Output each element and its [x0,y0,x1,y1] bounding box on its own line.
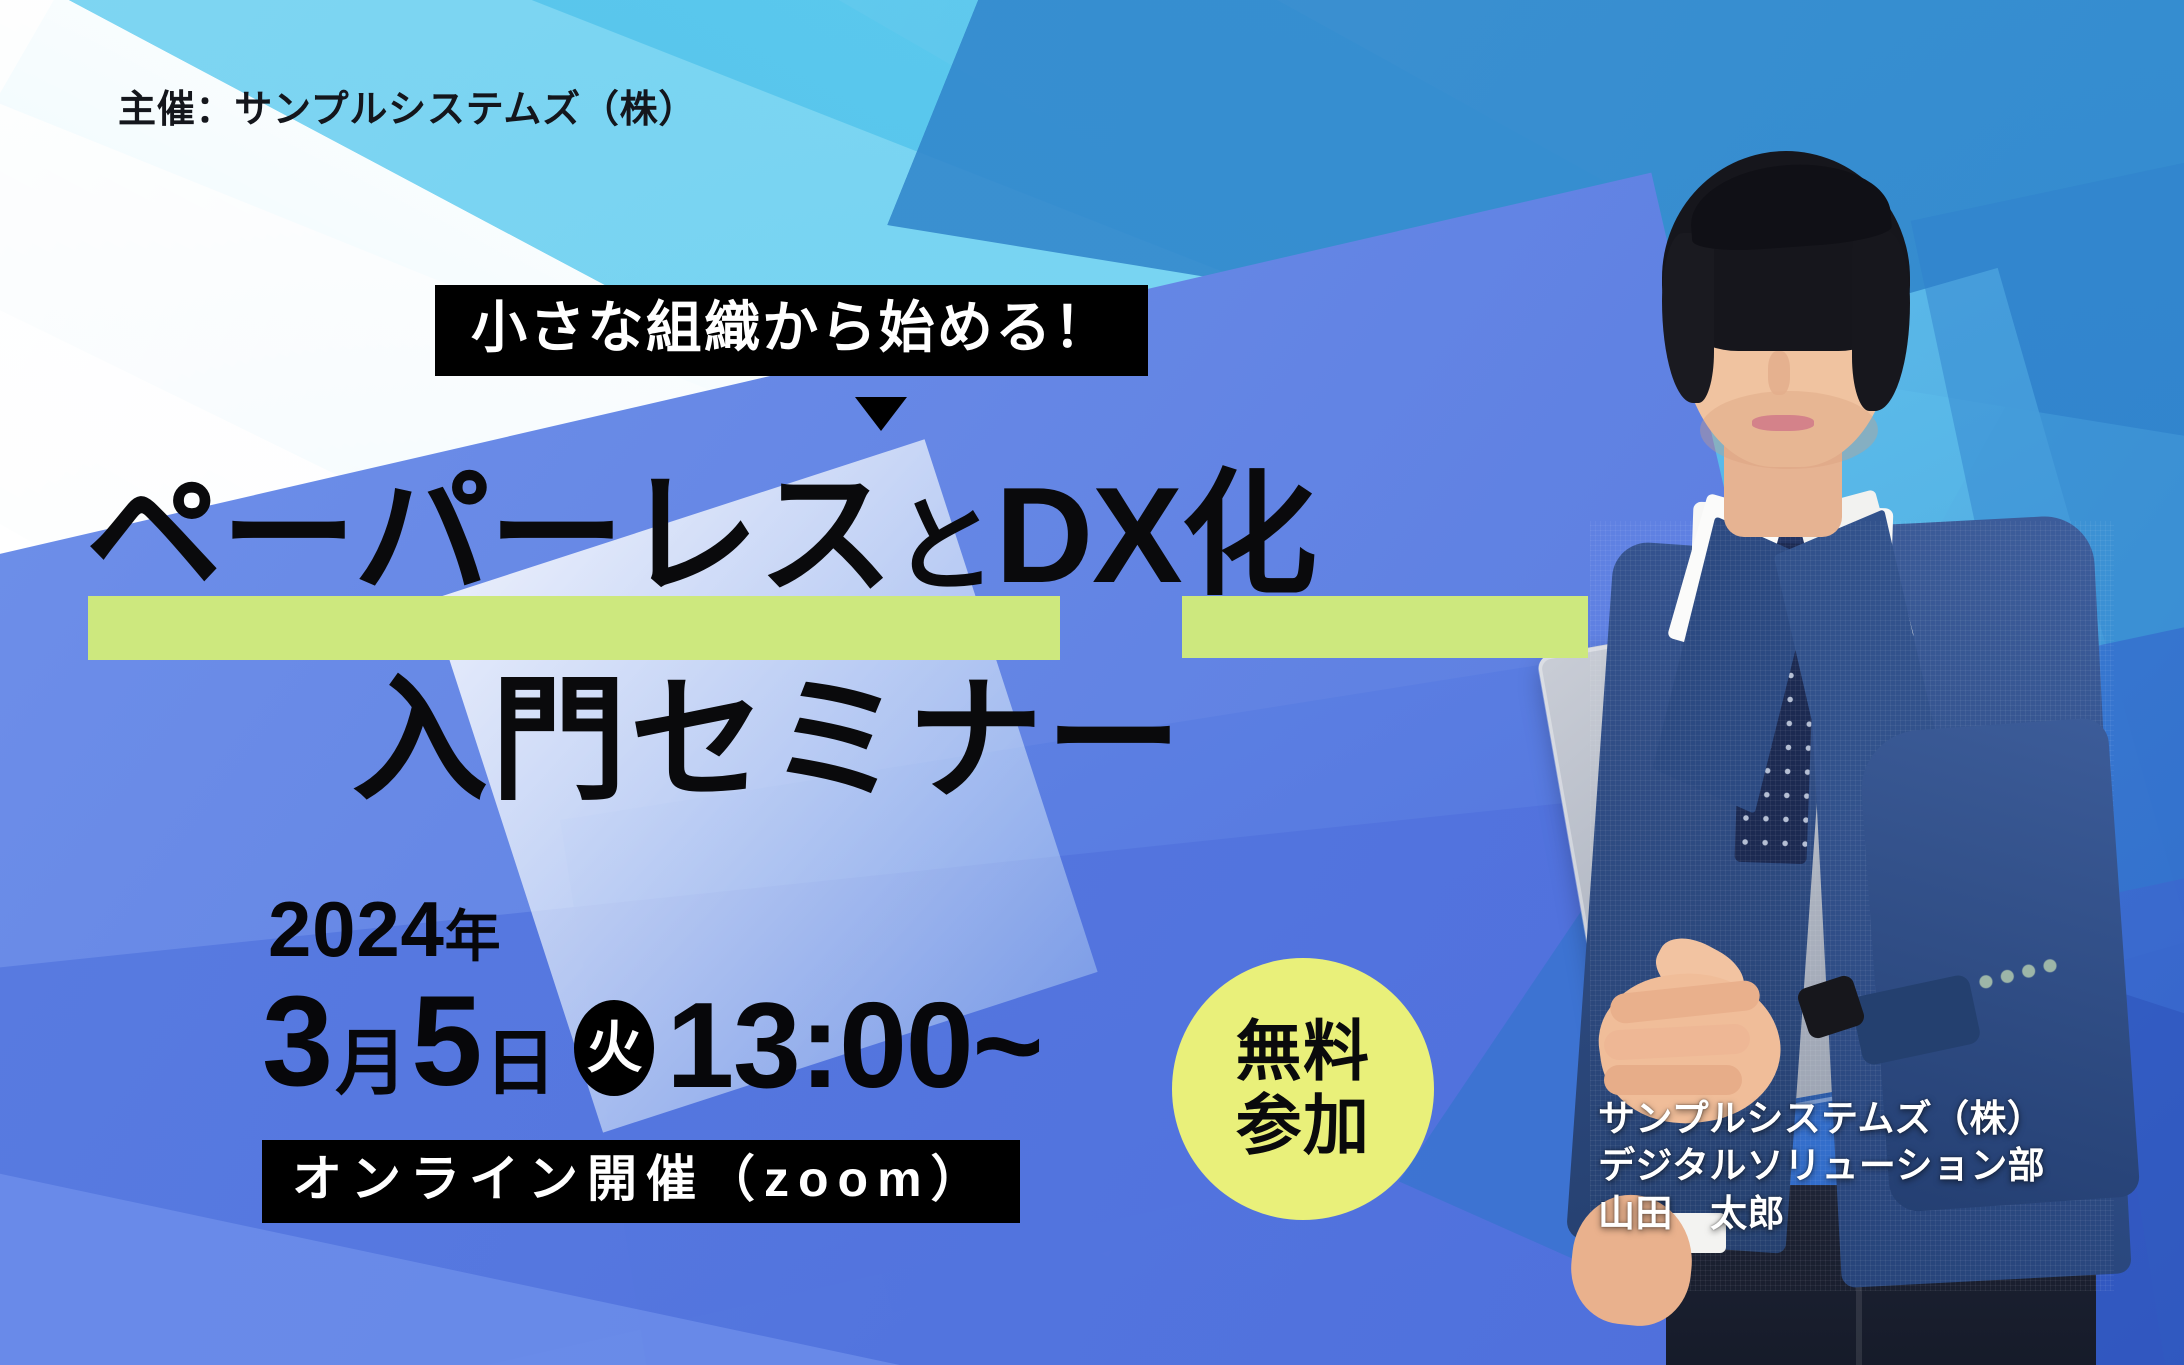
event-month-unit: 月 [333,1028,411,1106]
headline-line-2: 入門セミナー [352,672,1184,808]
event-year: 2024年 [268,890,501,968]
headline-seg-paperless: ペーパーレス [86,459,892,611]
seminar-banner: 主催：サンプルシステムズ（株） 小さな組織から始める！ ペーパーレスとDX化 入… [0,0,2184,1365]
catchphrase-ribbon: 小さな組織から始める！ [435,285,1148,376]
event-date-row: 3 月 5 日 火 13:00~ [262,978,1042,1106]
presenter-hair-side-left [1662,233,1714,403]
event-start-time: 13:00~ [666,984,1042,1106]
badge-line-2: 参加 [1236,1089,1371,1163]
catchphrase-text: 小さな組織から始める！ [471,299,1112,358]
presenter-mouth [1752,415,1814,431]
headline-seg-dx: DX化 [995,459,1316,611]
event-month-number: 3 [262,978,333,1106]
hand-finger-3 [1604,1065,1742,1095]
headline-seg-to: と [892,489,995,605]
speaker-name: 山田 太郎 [1598,1190,2045,1237]
event-year-number: 2024 [268,885,445,973]
event-year-unit: 年 [445,905,502,968]
presenter-nose [1768,351,1790,395]
event-day-number: 5 [411,978,482,1106]
speaker-company: サンプルシステムズ（株） [1598,1095,2045,1142]
speaker-credit: サンプルシステムズ（株） デジタルソリューション部 山田 太郎 [1598,1095,2045,1237]
badge-line-1: 無料 [1236,1015,1371,1089]
event-weekday-badge: 火 [574,1000,654,1096]
free-participation-badge: 無料 参加 [1172,958,1434,1220]
venue-text: オンライン開催（zoom） [292,1152,990,1207]
event-day-unit: 日 [482,1028,560,1106]
presenter-hair-side-right [1852,231,1910,411]
venue-bar: オンライン開催（zoom） [262,1140,1020,1223]
speaker-department: デジタルソリューション部 [1598,1142,2045,1189]
ribbon-pointer-icon [855,397,907,431]
host-line: 主催：サンプルシステムズ（株） [118,78,697,133]
headline-line-1: ペーパーレスとDX化 [86,467,1316,603]
